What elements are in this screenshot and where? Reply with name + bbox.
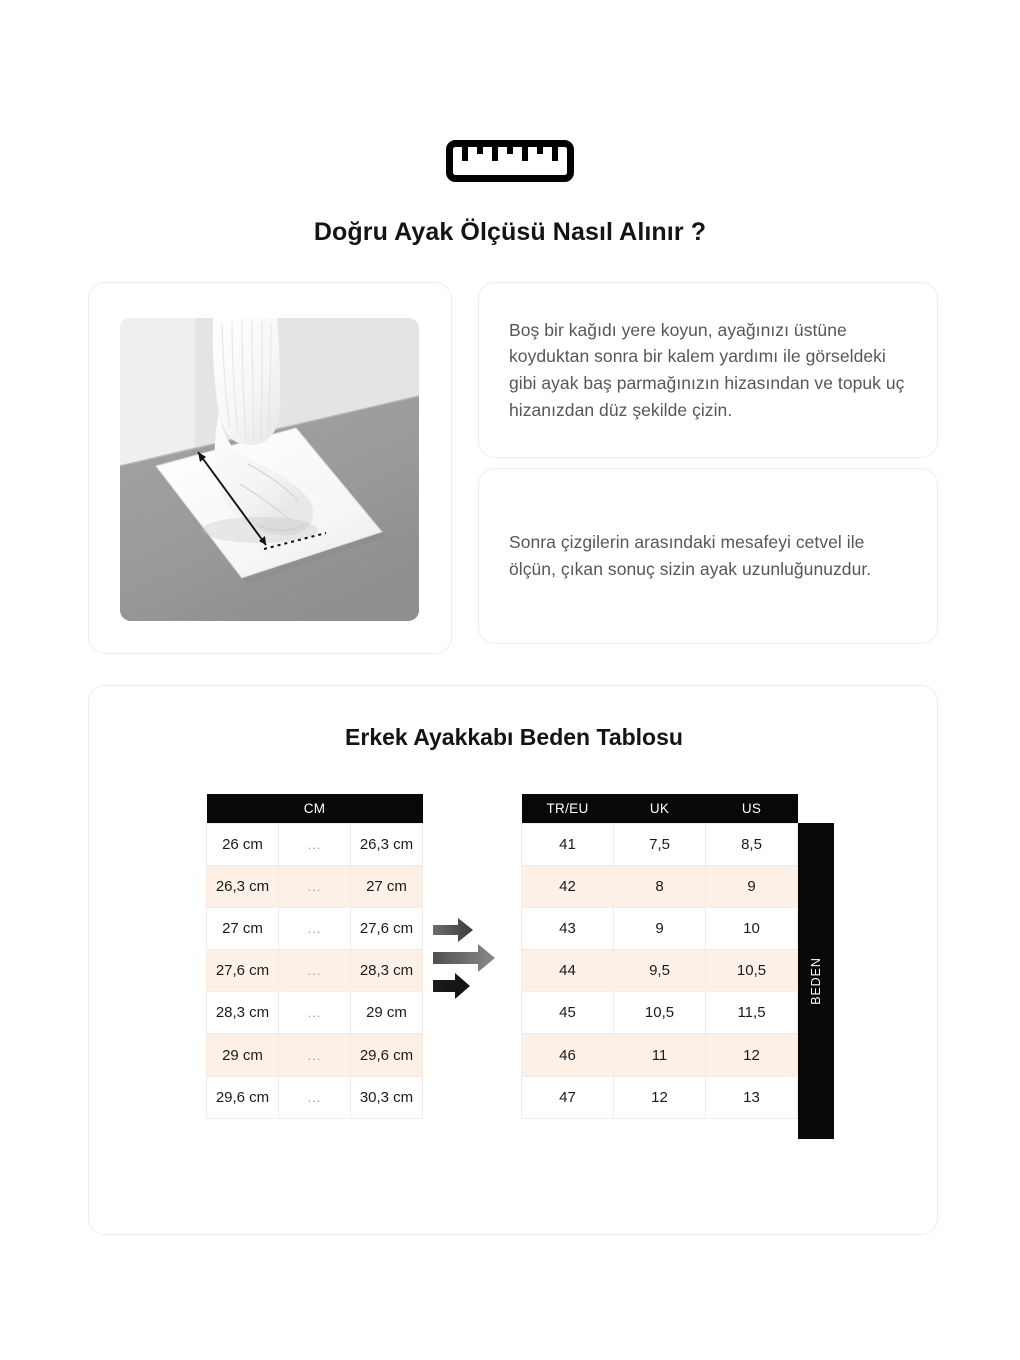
cm-from: 27 cm <box>207 907 279 949</box>
size-guide-page: Doğru Ayak Ölçüsü Nasıl Alınır ? <box>0 0 1020 1360</box>
cell-tr-eu: 45 <box>522 992 614 1034</box>
size-table-header-row: TR/EU UK US <box>522 794 798 823</box>
cm-to: 29 cm <box>351 992 423 1034</box>
arrow-icon-top <box>433 918 473 942</box>
conversion-arrows <box>429 912 519 1004</box>
table-row: 28,3 cm ... 29 cm <box>207 992 423 1034</box>
cm-separator: ... <box>279 823 351 865</box>
cm-table: CM 26 cm ... 26,3 cm 26,3 cm ... 27 cm <box>206 794 423 1119</box>
table-row: 26,3 cm ... 27 cm <box>207 865 423 907</box>
ruler-icon-container <box>0 140 1020 187</box>
table-row: 29,6 cm ... 30,3 cm <box>207 1076 423 1118</box>
arrow-icon-middle <box>433 944 495 972</box>
cm-table-body: 26 cm ... 26,3 cm 26,3 cm ... 27 cm 27 c… <box>207 823 423 1118</box>
cell-tr-eu: 41 <box>522 823 614 865</box>
cm-separator: ... <box>279 950 351 992</box>
table-row: 29 cm ... 29,6 cm <box>207 1034 423 1076</box>
cell-uk: 11 <box>614 1034 706 1076</box>
cm-to: 27,6 cm <box>351 907 423 949</box>
cm-separator: ... <box>279 1034 351 1076</box>
page-title: Doğru Ayak Ölçüsü Nasıl Alınır ? <box>0 218 1020 247</box>
cm-separator: ... <box>279 1076 351 1118</box>
cm-to: 30,3 cm <box>351 1076 423 1118</box>
cell-uk: 9 <box>614 907 706 949</box>
size-table-card: Erkek Ayakkabı Beden Tablosu CM 26 cm ..… <box>88 685 938 1235</box>
header-tr-eu: TR/EU <box>522 794 614 823</box>
cm-to: 28,3 cm <box>351 950 423 992</box>
header-uk: UK <box>614 794 706 823</box>
ruler-icon <box>446 140 574 187</box>
instruction-text-1: Boş bir kağıdı yere koyun, ayağınızı üst… <box>509 317 907 423</box>
cell-us: 9 <box>706 865 798 907</box>
cell-tr-eu: 44 <box>522 950 614 992</box>
table-row: 44 9,5 10,5 <box>522 950 798 992</box>
cm-from: 28,3 cm <box>207 992 279 1034</box>
arrow-icon-bottom <box>433 973 470 999</box>
cm-from: 26 cm <box>207 823 279 865</box>
beden-label-text: BEDEN <box>809 957 823 1005</box>
size-tables-container: CM 26 cm ... 26,3 cm 26,3 cm ... 27 cm <box>89 794 939 1139</box>
table-row: 27 cm ... 27,6 cm <box>207 907 423 949</box>
cell-tr-eu: 46 <box>522 1034 614 1076</box>
table-row: 45 10,5 11,5 <box>522 992 798 1034</box>
cell-us: 10,5 <box>706 950 798 992</box>
cell-uk: 8 <box>614 865 706 907</box>
table-row: 26 cm ... 26,3 cm <box>207 823 423 865</box>
beden-vertical-label: BEDEN <box>798 823 834 1139</box>
cm-from: 27,6 cm <box>207 950 279 992</box>
cell-us: 11,5 <box>706 992 798 1034</box>
shoe-size-table: TR/EU UK US 41 7,5 8,5 42 8 9 <box>521 794 798 1119</box>
cm-header-cell: CM <box>207 794 423 823</box>
cell-tr-eu: 47 <box>522 1076 614 1118</box>
table-row: 41 7,5 8,5 <box>522 823 798 865</box>
photo-card <box>88 282 452 654</box>
cm-table-header-row: CM <box>207 794 423 823</box>
cell-uk: 7,5 <box>614 823 706 865</box>
table-row: 46 11 12 <box>522 1034 798 1076</box>
cell-tr-eu: 43 <box>522 907 614 949</box>
cell-us: 10 <box>706 907 798 949</box>
cell-uk: 10,5 <box>614 992 706 1034</box>
cm-from: 29,6 cm <box>207 1076 279 1118</box>
cell-us: 12 <box>706 1034 798 1076</box>
instruction-card-2: Sonra çizgilerin arasındaki mesafeyi cet… <box>478 468 938 644</box>
cell-us: 8,5 <box>706 823 798 865</box>
table-row: 47 12 13 <box>522 1076 798 1118</box>
cm-separator: ... <box>279 992 351 1034</box>
cell-uk: 12 <box>614 1076 706 1118</box>
header-us: US <box>706 794 798 823</box>
cm-separator: ... <box>279 907 351 949</box>
size-table-body: 41 7,5 8,5 42 8 9 43 9 10 <box>522 823 798 1118</box>
instruction-text-2: Sonra çizgilerin arasındaki mesafeyi cet… <box>509 529 907 582</box>
cm-to: 26,3 cm <box>351 823 423 865</box>
cm-separator: ... <box>279 865 351 907</box>
cell-uk: 9,5 <box>614 950 706 992</box>
size-table-title: Erkek Ayakkabı Beden Tablosu <box>89 724 939 751</box>
table-row: 42 8 9 <box>522 865 798 907</box>
cm-from: 29 cm <box>207 1034 279 1076</box>
table-row: 27,6 cm ... 28,3 cm <box>207 950 423 992</box>
foot-measurement-photo <box>120 318 419 621</box>
instruction-card-1: Boş bir kağıdı yere koyun, ayağınızı üst… <box>478 282 938 458</box>
cm-to: 27 cm <box>351 865 423 907</box>
cm-from: 26,3 cm <box>207 865 279 907</box>
cell-us: 13 <box>706 1076 798 1118</box>
cm-to: 29,6 cm <box>351 1034 423 1076</box>
cell-tr-eu: 42 <box>522 865 614 907</box>
table-row: 43 9 10 <box>522 907 798 949</box>
